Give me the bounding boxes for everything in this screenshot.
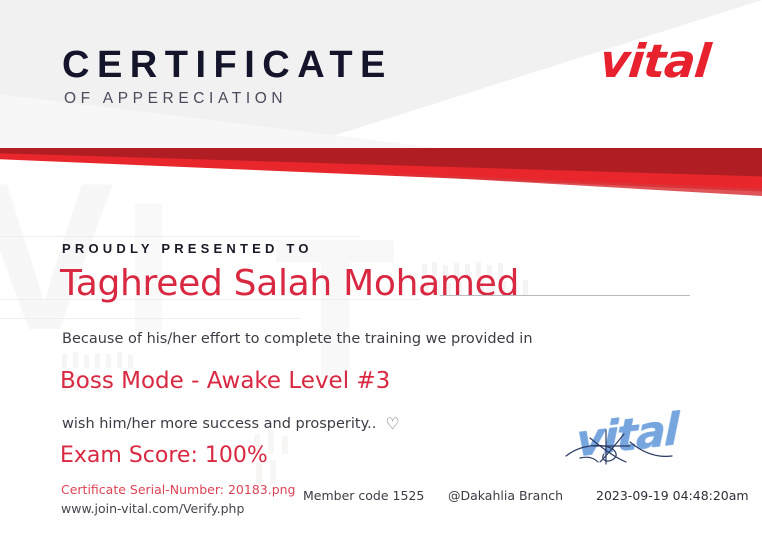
certificate-serial-number: Certificate Serial-Number: 20183.png (61, 482, 296, 497)
exam-score: Exam Score: 100% (60, 443, 268, 468)
verify-url-link[interactable]: www.join-vital.com/Verify.php (61, 501, 244, 516)
certificate-header: CERTIFICATE OF APPERECIATION vital (0, 0, 762, 130)
wish-line: wish him/her more success and prosperity… (62, 414, 400, 433)
certificate-subtitle: OF APPERECIATION (64, 90, 287, 108)
signature-stamp-area: vital (560, 408, 735, 488)
certificate-title: CERTIFICATE (62, 44, 393, 87)
course-title: Boss Mode - Awake Level #3 (60, 368, 390, 394)
heart-icon: ♡ (385, 414, 399, 433)
certificate-page: V I T (0, 0, 762, 539)
issued-date: 2023-09-19 04:48:20am (596, 488, 749, 503)
branch-name: @Dakahlia Branch (448, 488, 563, 503)
recipient-name-rule (440, 295, 690, 296)
vital-logo: vital (598, 38, 712, 84)
handwritten-signature-icon (560, 412, 735, 490)
presented-to-label: PROUDLY PRESENTED TO (62, 241, 313, 256)
wish-text: wish him/her more success and prosperity… (62, 416, 376, 432)
recipient-name: Taghreed Salah Mohamed (60, 263, 519, 304)
red-diagonal-band (0, 130, 762, 205)
member-code: Member code 1525 (303, 488, 424, 503)
reason-line: Because of his/her effort to complete th… (62, 331, 533, 347)
